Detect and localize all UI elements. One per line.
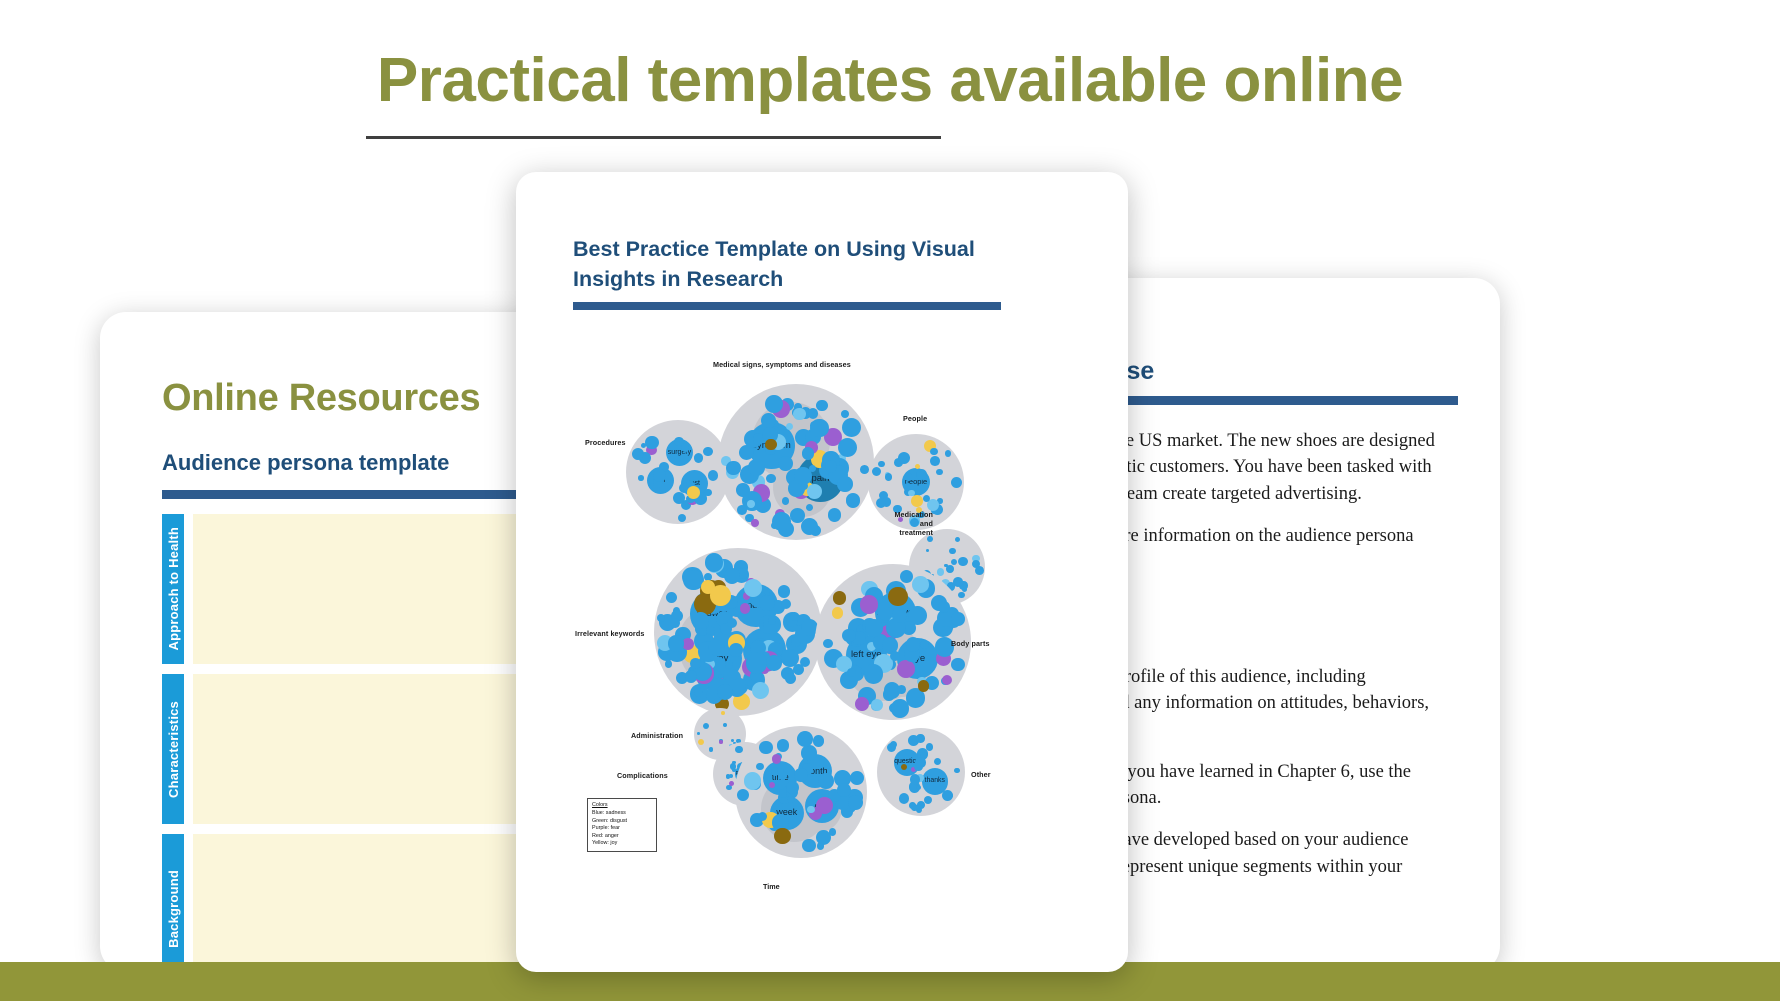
legend-entry: Blue: sadness (592, 810, 652, 817)
chart-bubble (786, 423, 793, 430)
chart-bubble (865, 619, 883, 637)
chart-bubble (850, 771, 864, 785)
chart-bubble (638, 475, 644, 481)
persona-field-tab: Background (162, 834, 184, 972)
chart-bubble (906, 637, 920, 651)
chart-cluster-label: Body parts (951, 639, 990, 648)
chart-bubble (911, 495, 923, 507)
chart-bubble (632, 448, 644, 460)
chart-bubble (751, 519, 759, 527)
chart-bubble (938, 601, 950, 613)
chart-bubble (756, 763, 764, 771)
chart-bubble (748, 459, 765, 476)
chart-bubble (890, 741, 897, 748)
chart-bubble (737, 505, 747, 515)
chart-bubble (653, 469, 666, 482)
chart-bubble (778, 585, 791, 598)
chart-legend: ColorsBlue: sadnessGreen: disgustPurple:… (587, 798, 657, 852)
legend-entry: Red: anger (592, 833, 652, 840)
chart-bubble (732, 761, 736, 765)
chart-cluster-label: Complications (617, 771, 668, 780)
chart-bubble (898, 452, 910, 464)
page-title: Practical templates available online (0, 48, 1780, 113)
chart-bubble (837, 476, 853, 492)
chart-bubble (772, 754, 781, 763)
chart-cluster-label: Irrelevant keywords (575, 629, 644, 638)
chart-bubble (951, 477, 962, 488)
chart-bubble (832, 607, 843, 618)
chart-bubble (797, 731, 813, 747)
chart-cluster-label: Medication and treatment (891, 510, 933, 537)
chart-bubble (778, 456, 793, 471)
chart-bubble (790, 612, 799, 621)
chart-bubble (897, 685, 906, 694)
chart-bubble (670, 618, 680, 628)
chart-bubble (697, 732, 700, 735)
chart-bubble (954, 768, 960, 774)
chart-bubble (909, 802, 916, 809)
chart-bubble (846, 493, 860, 507)
chart-bubble (905, 473, 912, 480)
bubble-chart: testmrisurgeryProcedurespainsymptomMedic… (573, 342, 1001, 902)
chart-bubble (694, 453, 703, 462)
center-card-accent-rule (573, 302, 1001, 310)
chart-bubble (766, 474, 775, 483)
title-underline-rule (366, 136, 941, 139)
chart-bubble (717, 684, 733, 700)
chart-bubble (685, 670, 698, 683)
chart-bubble (792, 510, 803, 521)
chart-bubble (744, 579, 762, 597)
chart-bubble (942, 675, 952, 685)
chart-bubble (807, 806, 815, 814)
center-card-title: Best Practice Template on Using Visual I… (573, 235, 1063, 294)
chart-bubble (848, 795, 863, 810)
chart-bubble (888, 587, 908, 607)
chart-bubble (808, 408, 818, 418)
chart-bubble (951, 612, 964, 625)
chart-bubble (666, 592, 677, 603)
left-card-subtitle: Audience persona template (162, 450, 449, 476)
legend-entry: Yellow: joy (592, 840, 652, 847)
chart-bubble (727, 618, 737, 628)
chart-bubble (774, 828, 791, 845)
chart-cluster-label: Other (971, 770, 991, 779)
chart-bubble (746, 652, 767, 673)
chart-bubble (829, 828, 836, 835)
chart-bubble (915, 757, 925, 767)
chart-bubble (918, 680, 930, 692)
chart-bubble (891, 699, 910, 718)
chart-bubble (828, 508, 841, 521)
chart-bubble (781, 649, 799, 667)
chart-bubble (936, 469, 942, 475)
chart-bubble (930, 448, 938, 456)
chart-bubble (801, 745, 816, 760)
chart-bubble (837, 783, 851, 797)
chart-bubble (885, 473, 892, 480)
chart-bubble (726, 461, 740, 475)
chart-bubble (690, 658, 700, 668)
chart-bubble (942, 790, 953, 801)
chart-bubble (793, 408, 805, 420)
chart-bubble (740, 603, 751, 614)
chart-bubble (908, 490, 915, 497)
chart-bubble (816, 400, 827, 411)
chart-bubble (765, 439, 776, 450)
chart-bubble (825, 460, 838, 473)
chart-bubble (878, 461, 885, 468)
chart-bubble (777, 739, 789, 751)
chart-bubble (937, 568, 945, 576)
chart-bubble (951, 658, 964, 671)
chart-bubble (779, 789, 787, 797)
chart-bubble (934, 758, 941, 765)
chart-bubble (706, 626, 715, 635)
chart-bubble (945, 450, 952, 457)
chart-bubble (721, 711, 725, 715)
chart-bubble (782, 497, 789, 504)
legend-entry: Green: disgust (592, 818, 652, 825)
chart-bubble (802, 839, 815, 852)
chart-bubble (737, 789, 749, 801)
chart-bubble (920, 752, 926, 758)
persona-field-tab: Approach to Health (162, 514, 184, 664)
chart-bubble (719, 740, 723, 744)
chart-bubble (899, 793, 909, 803)
chart-bubble (769, 782, 775, 788)
chart-bubble (871, 699, 883, 711)
chart-bubble (912, 576, 929, 593)
chart-bubble (703, 447, 712, 456)
chart-cluster-label: Procedures (585, 438, 626, 447)
persona-field-label: Approach to Health (166, 527, 181, 651)
chart-bubble (802, 447, 814, 459)
chart-bubble (847, 668, 856, 677)
chart-bubble (810, 419, 829, 438)
persona-field-label: Background (166, 870, 181, 948)
chart-bubble (855, 697, 869, 711)
chart-bubble (710, 585, 731, 606)
chart-bubble (781, 599, 791, 609)
chart-bubble (729, 643, 743, 657)
chart-bubble (698, 739, 704, 745)
chart-bubble (872, 467, 881, 476)
legend-entry: Purple: fear (592, 825, 652, 832)
chart-bubble (833, 591, 846, 604)
chart-bubble (747, 500, 755, 508)
chart-bubble (841, 410, 849, 418)
chart-bubble (823, 639, 833, 649)
chart-cluster-label: Medical signs, symptoms and diseases (713, 360, 851, 369)
chart-bubble (768, 616, 777, 625)
chart-bubble (916, 469, 927, 480)
chart-bubble (897, 660, 915, 678)
chart-bubble (725, 660, 734, 669)
left-card-accent-rule (162, 490, 574, 499)
chart-bubble (972, 560, 980, 568)
chart-bubble (838, 438, 857, 457)
chart-bubble (816, 797, 833, 814)
chart-bubble (705, 553, 724, 572)
chart-bubble (923, 495, 930, 502)
chart-axis-label-time: Time (763, 882, 780, 891)
legend-title: Colors (592, 802, 652, 809)
chart-bubble (759, 741, 772, 754)
chart-bubble (645, 436, 658, 449)
chart-bubble (924, 796, 932, 804)
chart-bubble (709, 747, 713, 751)
chart-bubble (818, 773, 834, 789)
chart-bubble (892, 607, 907, 622)
best-practice-template-card[interactable]: Best Practice Template on Using Visual I… (516, 172, 1128, 972)
chart-bubble (668, 635, 684, 651)
chart-bubble (930, 456, 940, 466)
chart-bubble (681, 443, 690, 452)
chart-bubble (958, 592, 965, 599)
chart-bubble (726, 774, 730, 778)
chart-bubble (752, 682, 769, 699)
chart-bubble (902, 771, 906, 775)
persona-field-label: Characteristics (166, 701, 181, 798)
chart-bubble (860, 595, 878, 613)
chart-bubble (813, 735, 825, 747)
chart-bubble (926, 743, 933, 750)
left-card-title: Online Resources (162, 377, 480, 420)
chart-bubble (694, 688, 703, 697)
persona-field-tab: Characteristics (162, 674, 184, 824)
chart-cluster-label: People (903, 414, 927, 423)
chart-cluster-label: Administration (631, 731, 683, 740)
chart-bubble (946, 565, 954, 573)
chart-bubble (842, 629, 856, 643)
chart-bubble (744, 772, 761, 789)
chart-bubble (958, 557, 968, 567)
chart-bubble (765, 395, 783, 413)
